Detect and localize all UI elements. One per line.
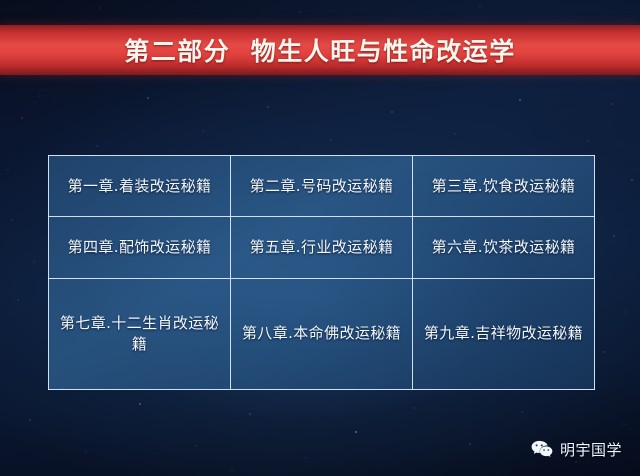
title-banner: 第二部分 物生人旺与性命改运学 — [0, 25, 640, 75]
chapter-cell-2[interactable]: 第二章.号码改运秘籍 — [231, 156, 413, 217]
page-title: 第二部分 物生人旺与性命改运学 — [124, 32, 515, 68]
chapter-label: 第四章.配饰改运秘籍 — [57, 237, 222, 258]
watermark: 明宇国学 — [531, 439, 622, 460]
wechat-icon — [531, 440, 553, 459]
chapter-cell-4[interactable]: 第四章.配饰改运秘籍 — [49, 217, 231, 278]
table-row: 第七章.十二生肖改运秘籍 第八章.本命佛改运秘籍 第九章.吉祥物改运秘籍 — [49, 278, 595, 389]
chapter-cell-9[interactable]: 第九章.吉祥物改运秘籍 — [413, 278, 595, 389]
chapter-cell-8[interactable]: 第八章.本命佛改运秘籍 — [231, 278, 413, 389]
chapter-label: 第六章.饮茶改运秘籍 — [421, 237, 586, 258]
chapter-label: 第八章.本命佛改运秘籍 — [239, 323, 404, 344]
watermark-label: 明宇国学 — [560, 439, 622, 460]
table-row: 第四章.配饰改运秘籍 第五章.行业改运秘籍 第六章.饮茶改运秘籍 — [49, 217, 595, 278]
chapter-label: 第三章.饮食改运秘籍 — [421, 176, 586, 197]
chapter-cell-1[interactable]: 第一章.着装改运秘籍 — [49, 156, 231, 217]
chapter-cell-5[interactable]: 第五章.行业改运秘籍 — [231, 217, 413, 278]
slide-canvas: 第二部分 物生人旺与性命改运学 第一章.着装改运秘籍 第二章.号码改运秘籍 第三… — [0, 0, 640, 476]
chapter-label: 第九章.吉祥物改运秘籍 — [421, 323, 586, 344]
chapter-label: 第一章.着装改运秘籍 — [57, 176, 222, 197]
chapter-label: 第五章.行业改运秘籍 — [239, 237, 404, 258]
chapter-label: 第七章.十二生肖改运秘籍 — [57, 313, 222, 356]
chapter-cell-3[interactable]: 第三章.饮食改运秘籍 — [413, 156, 595, 217]
table-row: 第一章.着装改运秘籍 第二章.号码改运秘籍 第三章.饮食改运秘籍 — [49, 156, 595, 217]
chapter-cell-6[interactable]: 第六章.饮茶改运秘籍 — [413, 217, 595, 278]
chapter-label: 第二章.号码改运秘籍 — [239, 176, 404, 197]
chapter-table: 第一章.着装改运秘籍 第二章.号码改运秘籍 第三章.饮食改运秘籍 第四章.配饰改… — [48, 155, 595, 390]
chapter-cell-7[interactable]: 第七章.十二生肖改运秘籍 — [49, 278, 231, 389]
